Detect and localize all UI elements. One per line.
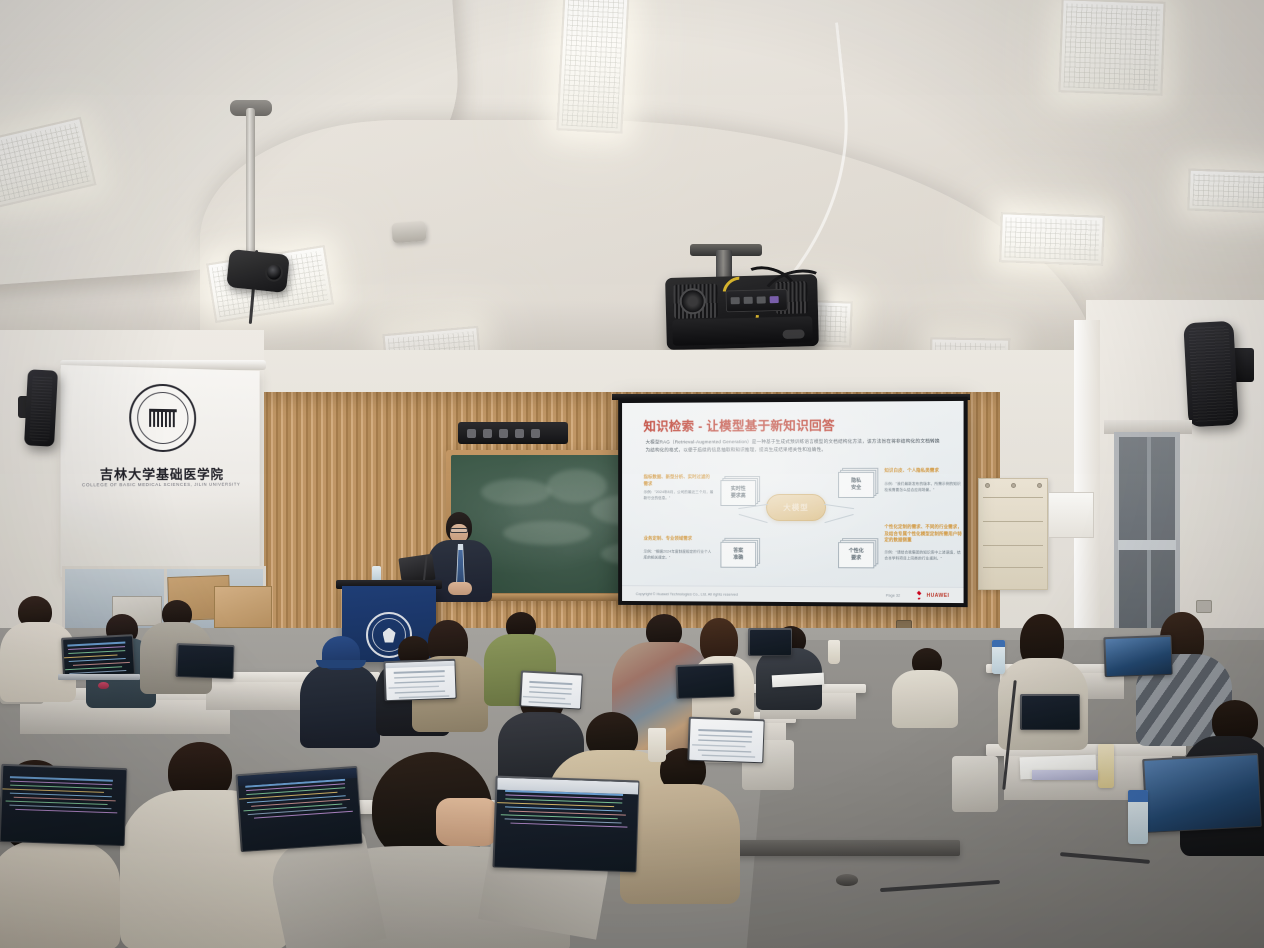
control-button[interactable] xyxy=(499,429,508,438)
chart-grommet xyxy=(1011,483,1016,488)
slide-doc-stack-realtime: 实时性 要求高 xyxy=(720,476,760,506)
student-laptop[interactable] xyxy=(687,717,764,764)
banner-title-cn: 吉林大学基础医学院 xyxy=(61,464,260,484)
chart-grommet xyxy=(1037,483,1042,488)
av-control-panel[interactable] xyxy=(458,422,568,444)
laptop-lid xyxy=(687,717,764,764)
wall-outlet-icon xyxy=(1196,600,1212,613)
laptop-lid xyxy=(519,670,583,709)
laptop-screen-document xyxy=(689,718,763,762)
wall-speaker-right xyxy=(1183,321,1238,427)
laptop-screen-code-editor xyxy=(237,767,361,850)
student-laptop[interactable] xyxy=(235,766,362,852)
control-button[interactable] xyxy=(467,429,476,438)
department-banner: 吉林大学基础医学院 COLLEGE OF BASIC MEDICAL SCIEN… xyxy=(61,365,260,577)
slide-block-heading: 指标数据、新型分析、实时过滤的需求 xyxy=(644,474,713,487)
laptop-lid xyxy=(0,764,127,846)
laptop-lid xyxy=(492,776,639,873)
student-body xyxy=(892,670,958,728)
slide-block-text: 示例："2024年8月，公司的最近三个月，最新行业的信息。" xyxy=(644,490,715,501)
presenter-glasses-icon xyxy=(450,528,468,533)
student-laptop[interactable] xyxy=(1020,694,1080,730)
chalk-smudge xyxy=(503,521,591,545)
slide-block-heading: 知识白皮、个人隐私类需求 xyxy=(884,468,959,475)
slide-connector xyxy=(824,514,853,523)
drink-cup[interactable] xyxy=(1098,744,1114,788)
student-laptop[interactable] xyxy=(0,764,127,846)
camera-pole xyxy=(246,108,255,258)
projection-screen: 知识检索 - 让模型基于新知识回答 大模型RAG（Retrieval-Augme… xyxy=(618,397,967,607)
laptop-screen xyxy=(177,645,233,678)
student-laptop[interactable] xyxy=(1103,635,1172,677)
crest-gate-icon xyxy=(149,409,177,427)
seal-shield-icon xyxy=(383,628,396,643)
student-laptop[interactable] xyxy=(175,643,234,679)
water-bottle[interactable] xyxy=(1128,790,1148,844)
student-hand xyxy=(436,798,498,846)
doc-label-line1: 隐私 xyxy=(851,478,861,485)
cup[interactable] xyxy=(828,640,840,664)
slide-block-heading: 业务定制、专业领域需求 xyxy=(644,536,713,543)
chalk-smudge xyxy=(547,469,607,503)
student-laptop[interactable] xyxy=(492,776,639,873)
control-button[interactable] xyxy=(531,429,540,438)
slide-connector xyxy=(739,514,768,523)
laptop-lid xyxy=(383,659,456,701)
laptop-screen-code-editor xyxy=(0,765,126,844)
laptop-lid xyxy=(1103,635,1172,677)
laptop-lid xyxy=(235,766,362,852)
crest-inner-ring xyxy=(137,391,188,444)
ceiling-light-panel xyxy=(1187,169,1264,214)
bottle-cap xyxy=(992,640,1005,647)
student-laptop[interactable] xyxy=(383,659,456,701)
student-laptop[interactable] xyxy=(61,634,135,678)
door-push-bar[interactable] xyxy=(1118,540,1176,550)
slide-title: 知识检索 - 让模型基于新知识回答 xyxy=(644,415,835,435)
paper-stack xyxy=(1032,770,1098,780)
slide-block-text: 示例："根据2024年度制度规定的行业个人库的相关规定。" xyxy=(644,550,715,562)
student-laptop[interactable] xyxy=(519,670,583,709)
slide-connector xyxy=(824,504,854,509)
slide-block-text: 示例："我们最新发布的版本，所需示例的知识检索需要怎么结合应用场景。" xyxy=(884,482,961,494)
wall-notice-card xyxy=(1048,492,1094,538)
doc-label-line1: 实时性 xyxy=(731,486,746,493)
computer-mouse[interactable] xyxy=(836,874,858,886)
chalk-smudge xyxy=(481,479,551,505)
laptop-screen-desktop xyxy=(1144,755,1261,832)
huawei-wordmark: HUAWEI xyxy=(927,592,950,598)
doc-stack-label: 个性化 要求 xyxy=(838,542,874,568)
slide-doc-stack-privacy: 隐私 安全 xyxy=(838,468,878,498)
bottle-cap xyxy=(1128,790,1148,802)
laptop-screen-code-editor xyxy=(494,777,638,871)
laptop-lid xyxy=(175,643,234,679)
slide-doc-stack-personalized: 个性化 要求 xyxy=(838,538,878,568)
doc-stack-label: 实时性 要求高 xyxy=(720,480,756,506)
doc-stack-label: 隐私 安全 xyxy=(838,472,874,498)
slide-doc-stack-accuracy: 答案 准确 xyxy=(720,538,760,568)
student-laptop[interactable] xyxy=(675,663,734,699)
camera-lens-icon xyxy=(264,262,284,283)
ceiling-projector xyxy=(665,274,819,350)
projector-logo-icon xyxy=(782,329,804,339)
huawei-logo: HUAWEI xyxy=(914,591,949,600)
ceiling-light-panel xyxy=(1058,0,1165,96)
ceiling-light-panel xyxy=(999,212,1105,266)
laptop-lid xyxy=(748,628,792,656)
doc-label-line2: 要求高 xyxy=(731,493,746,500)
slide-body-text: 大模型RAG（Retrieval-Augmented Generation）是一… xyxy=(646,437,944,454)
doc-stack-label: 答案 准确 xyxy=(720,542,756,568)
laptop-screen-desktop xyxy=(1105,636,1171,675)
student-laptop[interactable] xyxy=(1142,753,1262,833)
slide-block-heading: 个性化定制的需求、不同的行业需求，及结合专属个性化模型定制所需用户特定的数据侧重 xyxy=(884,524,963,544)
laptop-screen-toolbar xyxy=(497,777,638,794)
student-body xyxy=(300,664,380,748)
ceiling-camera-icon xyxy=(226,249,290,293)
laptop-screen-code-editor xyxy=(63,636,134,677)
laptop-lid xyxy=(1020,694,1080,730)
cap-brim xyxy=(316,660,366,668)
laptop-base xyxy=(58,674,140,680)
doc-label-line2: 安全 xyxy=(851,485,861,492)
student-body xyxy=(0,840,120,948)
computer-mouse[interactable] xyxy=(98,682,109,689)
classroom-photo: 吉林大学基础医学院 COLLEGE OF BASIC MEDICAL SCIEN… xyxy=(0,0,1264,948)
presentation-slide: 知识检索 - 让模型基于新知识回答 大模型RAG（Retrieval-Augme… xyxy=(622,401,964,603)
hanging-cloth-chart xyxy=(978,478,1048,590)
control-button[interactable] xyxy=(515,429,524,438)
laptop-screen-document xyxy=(385,660,455,699)
doc-label-line2: 要求 xyxy=(851,555,861,562)
doc-label-line2: 准确 xyxy=(733,555,743,562)
chart-grommet xyxy=(985,483,990,488)
slide-copyright: Copyright © Huawei Technologies Co., Ltd… xyxy=(636,592,738,597)
laptop-screen-document xyxy=(521,672,582,708)
huawei-petal-icon xyxy=(914,591,923,600)
control-button[interactable] xyxy=(483,429,492,438)
laptop-screen xyxy=(750,630,791,655)
presenter-hands xyxy=(448,582,472,595)
computer-mouse[interactable] xyxy=(730,708,741,715)
water-bottle[interactable] xyxy=(992,640,1005,674)
student-laptop[interactable] xyxy=(748,628,792,656)
smoke-detector-icon xyxy=(391,221,426,243)
wall-speaker-left xyxy=(24,369,58,446)
thermos-cup[interactable] xyxy=(648,728,666,762)
cardboard-box xyxy=(214,586,272,628)
chair-back xyxy=(952,756,998,812)
laptop-lid xyxy=(61,634,135,678)
laptop-lid xyxy=(1142,753,1262,833)
laptop-screen xyxy=(1022,696,1079,729)
banner-title-en: COLLEGE OF BASIC MEDICAL SCIENCES, JILIN… xyxy=(61,482,260,488)
university-crest-icon xyxy=(129,383,196,452)
slide-block-text: 示例："请结合我集团的知识库中上述语境，结合本学科项目上同类的行业规则。" xyxy=(884,550,963,562)
slide-footer: Copyright © Huawei Technologies Co., Ltd… xyxy=(622,585,964,603)
laptop-screen-toolbar xyxy=(385,660,454,668)
laptop-screen xyxy=(677,665,733,698)
ceiling-light-panel xyxy=(556,0,629,134)
laptop-lid xyxy=(675,663,734,699)
slide-page-number: Page 32 xyxy=(886,593,900,597)
slide-center-node: 大模型 xyxy=(766,494,826,521)
